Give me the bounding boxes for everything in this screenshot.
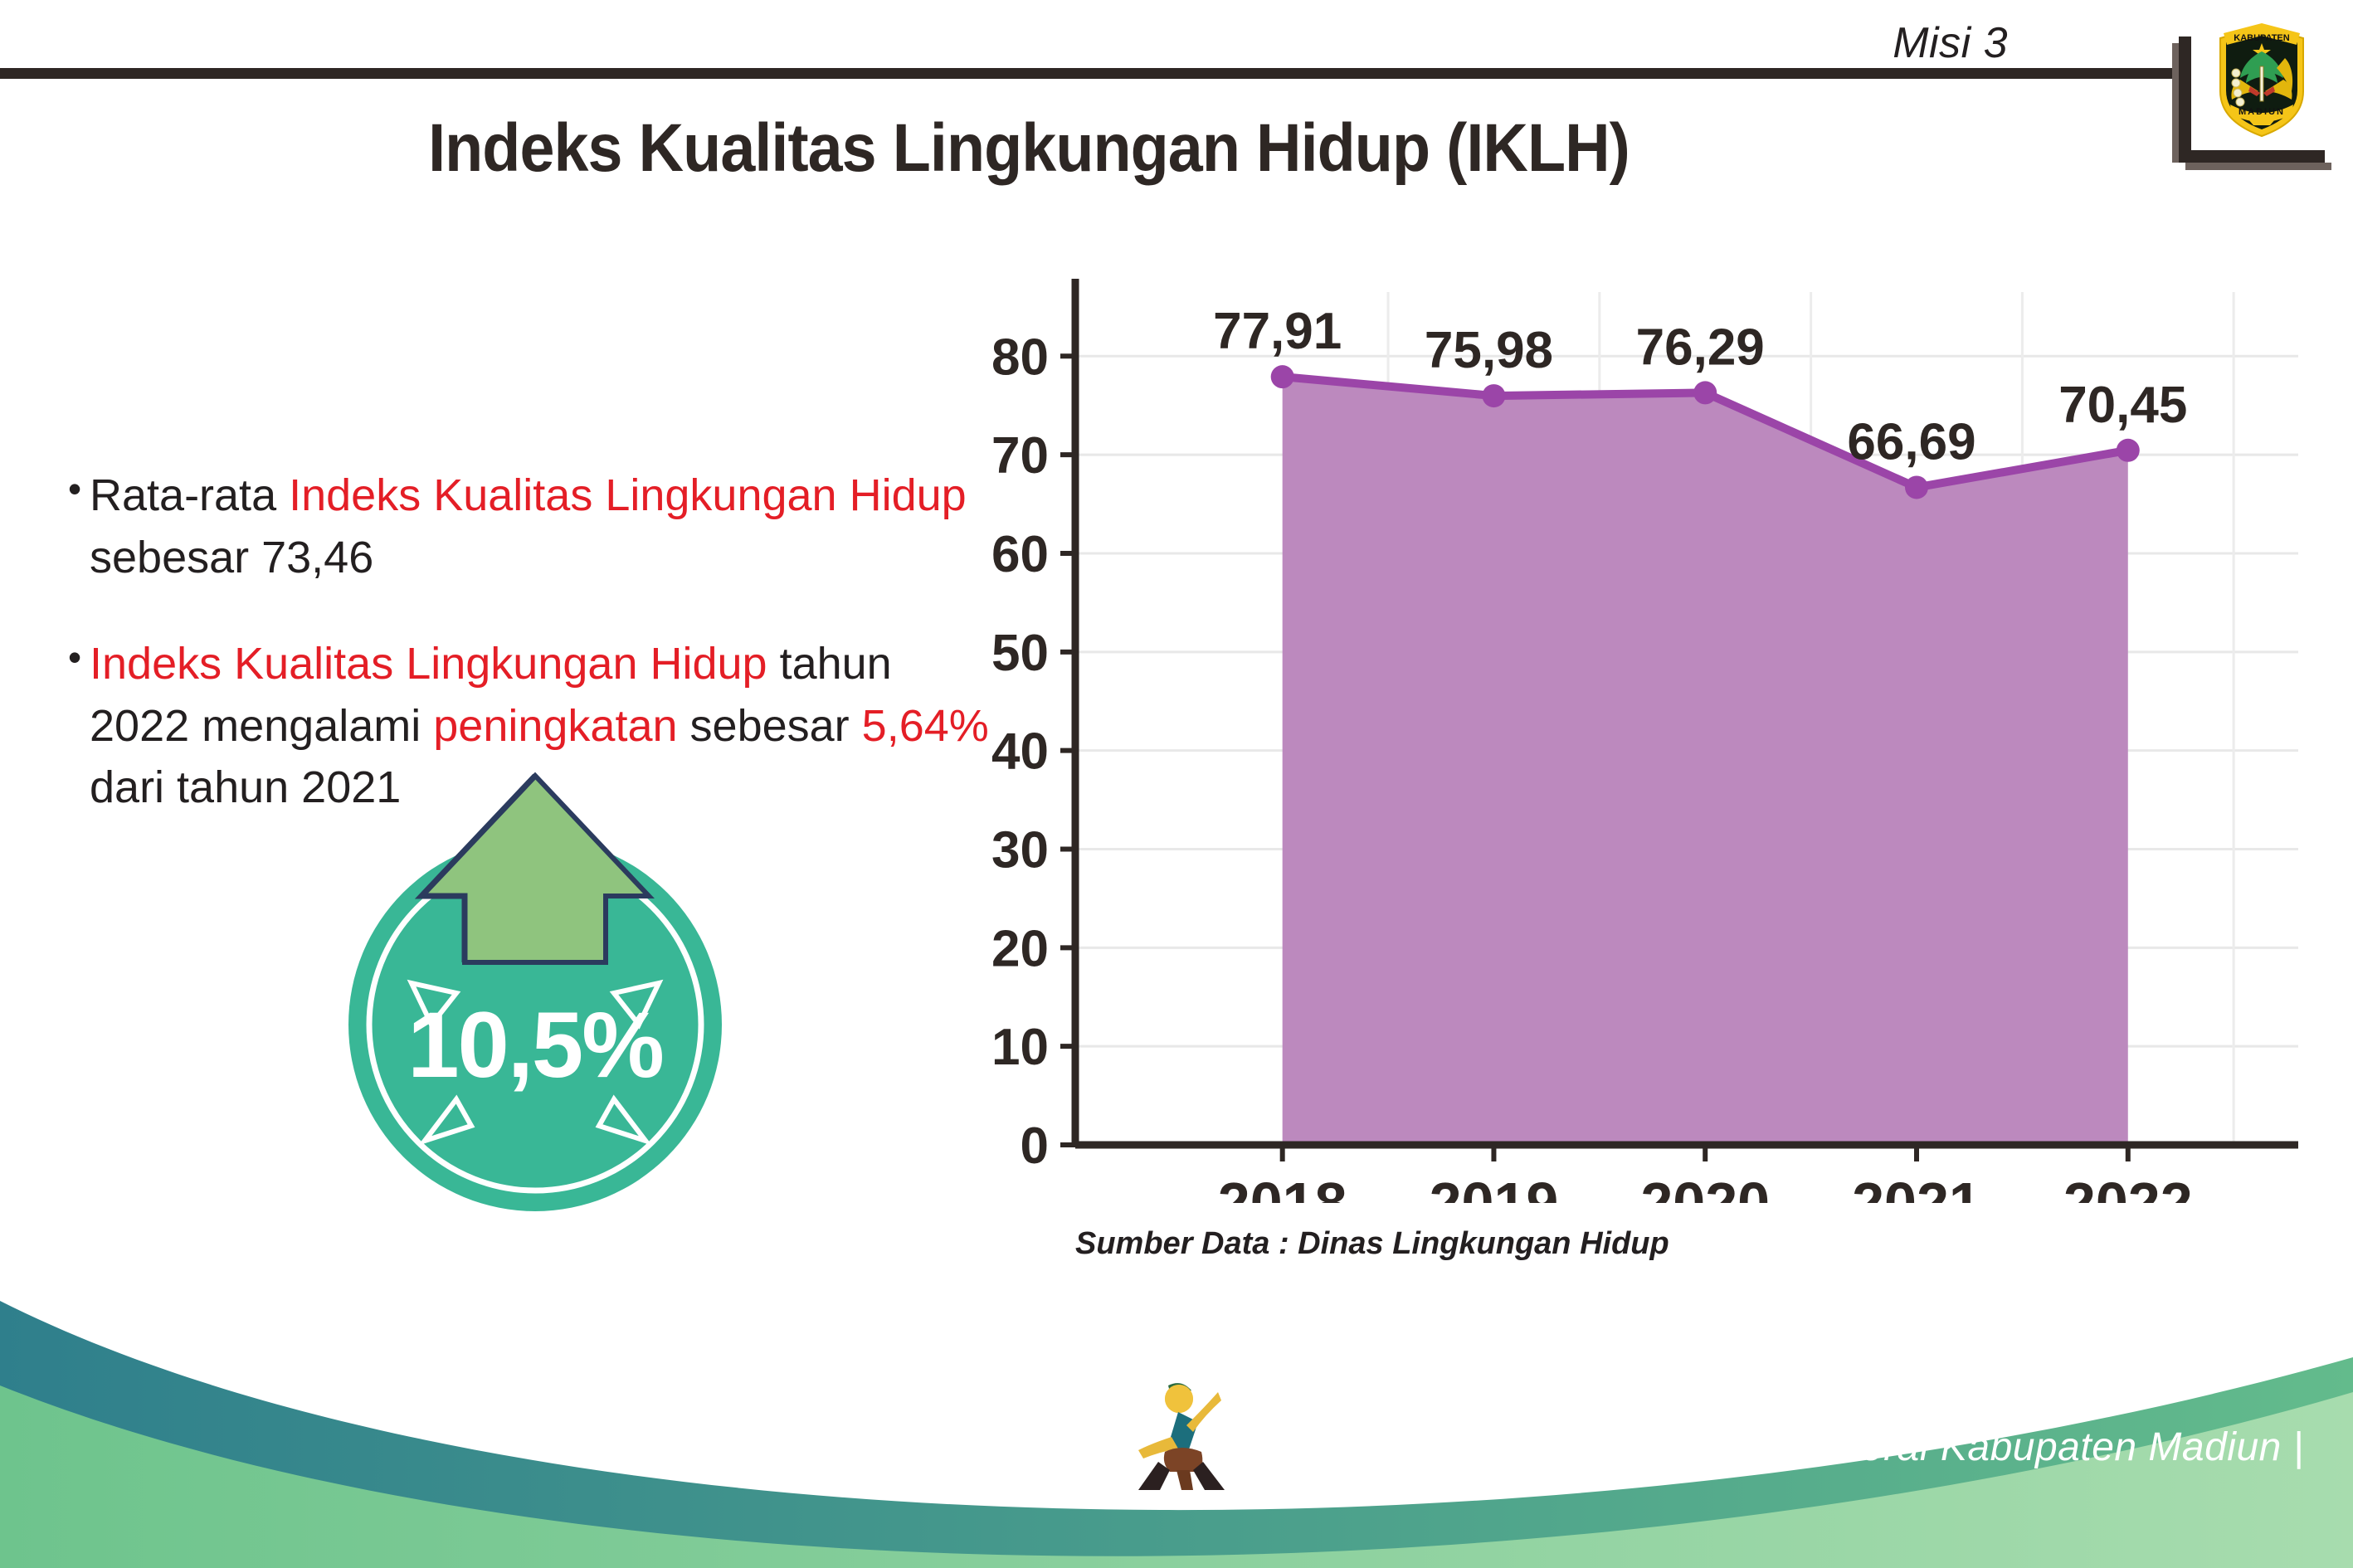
y-tick-label: 60 — [991, 526, 1049, 583]
badge-value: 10,5% — [348, 991, 722, 1098]
text-run: Indeks Kualitas Lingkungan Hidup — [90, 639, 767, 689]
kabupaten-madiun-logo-icon: KABUPATEN MADIUN — [2212, 15, 2312, 139]
data-point-marker — [1905, 475, 1928, 499]
data-point-marker — [2117, 439, 2140, 462]
increase-badge: 10,5% — [332, 751, 755, 1215]
data-point-label: 75,98 — [1425, 322, 1553, 379]
y-tick-label: 10 — [991, 1019, 1049, 1076]
y-tick-label: 80 — [991, 329, 1049, 386]
x-tick-label: 2021 — [1852, 1171, 1981, 1203]
bullet-item: Rata-rata Indeks Kualitas Lingkungan Hid… — [68, 465, 989, 588]
y-tick-label: 0 — [1021, 1118, 1049, 1175]
x-tick-label: 2018 — [1218, 1171, 1347, 1203]
bullet-text-0: Rata-rata Indeks Kualitas Lingkungan Hid… — [90, 470, 967, 582]
bracket-horizontal-shadow — [2185, 163, 2331, 170]
logo-top-text: KABUPATEN — [2234, 33, 2289, 43]
footer-caption: Media Infografis Data Statistik Sektoral… — [1226, 1424, 2304, 1470]
page-title: Indeks Kualitas Lingkungan Hidup (IKLH) — [82, 110, 1975, 187]
dancer-figure-icon — [1135, 1376, 1228, 1492]
x-tick-label: 2022 — [2063, 1171, 2193, 1203]
data-point-label: 70,45 — [2058, 377, 2187, 434]
y-tick-label: 70 — [991, 427, 1049, 485]
header-rule — [0, 68, 2174, 79]
data-point-label: 77,91 — [1213, 303, 1342, 360]
text-run: sebesar — [678, 701, 862, 751]
data-point-label: 66,69 — [1847, 413, 1975, 470]
y-tick-label: 30 — [991, 821, 1049, 879]
footer-band: Media Infografis Data Statistik Sektoral… — [0, 1286, 2353, 1568]
bracket-horizontal — [2179, 150, 2325, 163]
text-run: sebesar 73,46 — [90, 533, 373, 582]
y-tick-label: 20 — [991, 920, 1049, 977]
data-point-marker — [1693, 381, 1717, 404]
data-point-marker — [1482, 384, 1505, 407]
y-tick-label: 50 — [991, 625, 1049, 682]
bracket-vertical — [2179, 37, 2191, 163]
logo-bottom-text: MADIUN — [2239, 107, 2285, 117]
data-point-label: 76,29 — [1636, 319, 1765, 376]
chart-source-note: Sumber Data : Dinas Lingkungan Hidup — [1075, 1226, 1669, 1262]
x-tick-label: 2019 — [1430, 1171, 1559, 1203]
mission-label: Misi 3 — [1893, 18, 2008, 68]
iklh-area-chart: 77,9175,9876,2966,6970,45010203040506070… — [954, 274, 2323, 1203]
text-run: Indeks Kualitas Lingkungan Hidup — [289, 470, 967, 520]
text-run: peningkatan — [433, 701, 677, 751]
text-run: Rata-rata — [90, 470, 289, 520]
area-fill — [1283, 377, 2128, 1145]
y-tick-label: 40 — [991, 723, 1049, 781]
x-tick-label: 2020 — [1640, 1171, 1770, 1203]
data-point-marker — [1271, 365, 1294, 388]
